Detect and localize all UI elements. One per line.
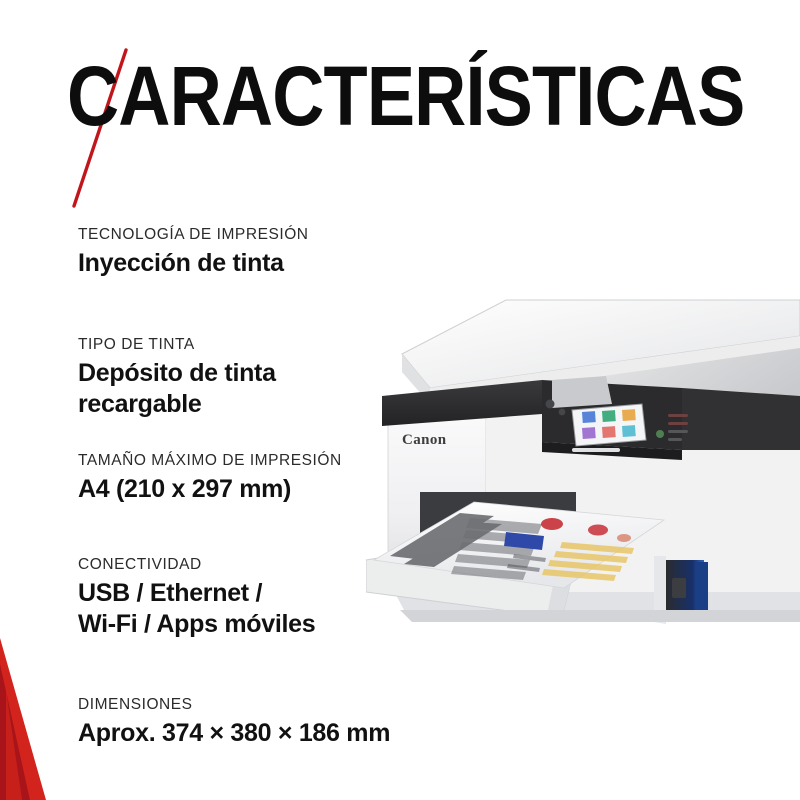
spec-value-line: recargable <box>78 389 276 420</box>
spec-ink-type: TIPO DE TINTA Depósito de tinta recargab… <box>78 335 276 420</box>
printer-base-shadow <box>400 610 800 622</box>
lcd-screen[interactable] <box>572 404 646 446</box>
spec-value-line: USB / Ethernet / <box>78 578 315 609</box>
status-light-strip <box>572 448 620 452</box>
page-title-block: CARACTERÍSTICAS <box>58 54 678 164</box>
spec-label: TAMAÑO MÁXIMO DE IMPRESIÓN <box>78 451 342 471</box>
spec-label: DIMENSIONES <box>78 695 390 715</box>
spec-label: CONECTIVIDAD <box>78 555 315 575</box>
spec-value-line: Aprox. 374 × 380 × 186 mm <box>78 718 390 749</box>
wedge-shape-inner <box>0 664 30 800</box>
wedge-shape-outer <box>0 638 46 800</box>
spec-label: TECNOLOGÍA DE IMPRESIÓN <box>78 225 309 245</box>
printer-product-image: Canon <box>366 292 800 664</box>
spec-value: A4 (210 x 297 mm) <box>78 474 342 505</box>
spec-value-line: A4 (210 x 297 mm) <box>78 474 342 505</box>
spec-dimensions: DIMENSIONES Aprox. 374 × 380 × 186 mm <box>78 695 390 749</box>
spec-value: USB / Ethernet / Wi-Fi / Apps móviles <box>78 578 315 640</box>
page-stamp <box>617 534 631 542</box>
spec-print-technology: TECNOLOGÍA DE IMPRESIÓN Inyección de tin… <box>78 225 309 279</box>
spec-value-line: Inyección de tinta <box>78 248 309 279</box>
spec-max-print-size: TAMAÑO MÁXIMO DE IMPRESIÓN A4 (210 x 297… <box>78 451 342 505</box>
spec-value: Depósito de tinta recargable <box>78 358 276 420</box>
spec-value: Aprox. 374 × 380 × 186 mm <box>78 718 390 749</box>
canon-logo: Canon <box>402 432 447 448</box>
spec-value-line: Depósito de tinta <box>78 358 276 389</box>
page-title: CARACTERÍSTICAS <box>67 54 744 138</box>
spec-connectivity: CONECTIVIDAD USB / Ethernet / Wi-Fi / Ap… <box>78 555 315 640</box>
feature-spec-poster: CARACTERÍSTICAS <box>0 0 800 800</box>
spec-label: TIPO DE TINTA <box>78 335 276 355</box>
wedge-shape-highlight <box>6 690 22 800</box>
page-stamp <box>588 525 608 536</box>
page-stamp <box>541 518 563 530</box>
spec-value: Inyección de tinta <box>78 248 309 279</box>
spec-value-line: Wi-Fi / Apps móviles <box>78 609 315 640</box>
printer-illustration: Canon <box>366 292 800 664</box>
